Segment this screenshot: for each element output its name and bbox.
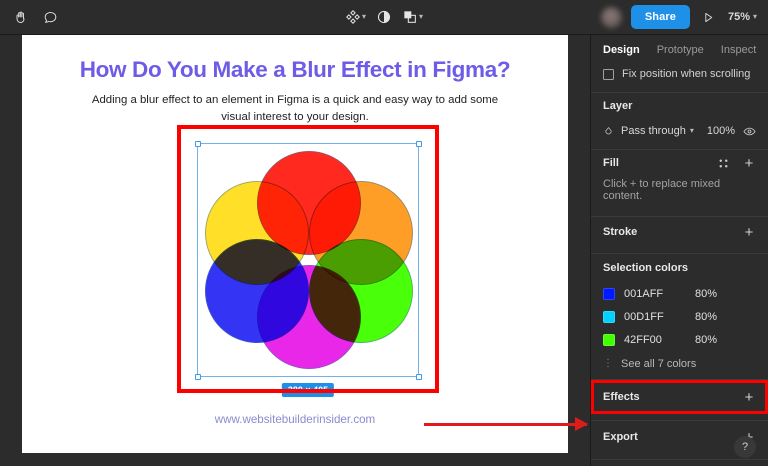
boolean-shapes-icon	[402, 9, 418, 25]
annotation-highlight-box	[177, 125, 439, 393]
tab-prototype[interactable]: Prototype	[657, 44, 704, 56]
help-button[interactable]: ?	[734, 436, 756, 458]
hand-icon	[13, 10, 28, 25]
share-button[interactable]: Share	[631, 5, 690, 29]
mask-contrast-icon	[376, 9, 392, 25]
blend-mode-icon	[603, 126, 614, 137]
fix-position-checkbox[interactable]	[603, 69, 614, 80]
stroke-section-header: Stroke +	[591, 217, 768, 247]
effects-section-header[interactable]: Effects +	[591, 380, 768, 414]
blog-post-frame[interactable]: How Do You Make a Blur Effect in Figma? …	[22, 35, 568, 453]
panel-tabs: Design Prototype Inspect	[591, 38, 768, 62]
avatar[interactable]	[601, 7, 622, 28]
opacity-value[interactable]: 100%	[707, 125, 735, 137]
export-title: Export	[603, 431, 638, 443]
tab-design[interactable]: Design	[603, 44, 640, 56]
layer-title: Layer	[603, 100, 632, 112]
fill-title: Fill	[603, 157, 619, 169]
comment-tool-button[interactable]	[36, 4, 64, 30]
color-opacity: 80%	[695, 334, 717, 346]
fill-styles-button[interactable]	[716, 156, 730, 170]
chevron-down-icon: ▾	[362, 13, 366, 21]
selection-color-row[interactable]: 42FF00 80%	[591, 328, 768, 351]
layer-properties-row: Pass through ▾ 100%	[591, 119, 768, 143]
play-triangle-icon	[702, 11, 715, 24]
color-hex: 42FF00	[624, 334, 686, 346]
top-toolbar: ▾ ▾ Share	[0, 0, 768, 35]
blend-mode-dropdown[interactable]: Pass through ▾	[621, 125, 694, 137]
color-hex: 001AFF	[624, 288, 686, 300]
see-all-colors-label: See all 7 colors	[621, 358, 696, 370]
fill-hint: Click + to replace mixed content.	[591, 176, 768, 210]
blend-mode-value: Pass through	[621, 125, 686, 137]
divider	[591, 459, 768, 460]
right-properties-panel: Design Prototype Inspect Fix position wh…	[590, 35, 768, 466]
page-title: How Do You Make a Blur Effect in Figma?	[22, 57, 568, 83]
color-opacity: 80%	[695, 311, 717, 323]
selection-colors-header: Selection colors	[591, 254, 768, 282]
color-swatch[interactable]	[603, 288, 615, 300]
fix-position-row[interactable]: Fix position when scrolling	[591, 62, 768, 86]
visibility-toggle[interactable]	[742, 124, 756, 138]
layer-section-header: Layer	[591, 93, 768, 119]
post-subtitle: Adding a blur effect to an element in Fi…	[80, 92, 510, 125]
color-hex: 00D1FF	[624, 311, 686, 323]
comment-icon	[43, 10, 58, 25]
hand-tool-button[interactable]	[6, 4, 34, 30]
selection-color-row[interactable]: 001AFF 80%	[591, 282, 768, 305]
fix-position-label: Fix position when scrolling	[622, 68, 750, 80]
fill-add-button[interactable]: +	[742, 156, 756, 170]
zoom-control[interactable]: 75% ▾	[728, 11, 757, 23]
components-tool-button[interactable]: ▾	[345, 9, 366, 25]
selection-color-row[interactable]: 00D1FF 80%	[591, 305, 768, 328]
fill-section-header: Fill +	[591, 150, 768, 176]
chevron-down-icon: ▾	[690, 127, 694, 135]
mask-tool-button[interactable]	[376, 9, 392, 25]
chevron-down-icon: ▾	[419, 13, 423, 21]
components-diamond-icon	[345, 9, 361, 25]
color-opacity: 80%	[695, 288, 717, 300]
annotation-arrow	[424, 423, 587, 426]
more-options-icon: ⋮	[603, 359, 613, 369]
effects-add-button[interactable]: +	[742, 390, 756, 404]
eye-icon	[743, 125, 756, 138]
toolbar-right-controls: Share 75% ▾	[601, 5, 768, 29]
toolbar-left-tools	[0, 4, 64, 30]
effects-title: Effects	[603, 391, 640, 403]
stroke-title: Stroke	[603, 226, 637, 238]
figma-app-window: ▾ ▾ Share	[0, 0, 768, 466]
design-canvas[interactable]: How Do You Make a Blur Effect in Figma? …	[0, 35, 590, 466]
boolean-tool-button[interactable]: ▾	[402, 9, 423, 25]
zoom-level-label: 75%	[728, 11, 750, 23]
present-button[interactable]	[699, 6, 719, 28]
chevron-down-icon: ▾	[753, 13, 757, 21]
color-swatch[interactable]	[603, 334, 615, 346]
tab-inspect[interactable]: Inspect	[721, 44, 756, 56]
color-swatch[interactable]	[603, 311, 615, 323]
style-grid-icon	[718, 158, 729, 169]
see-all-colors-button[interactable]: ⋮ See all 7 colors	[591, 351, 768, 373]
selection-colors-title: Selection colors	[603, 262, 688, 274]
stroke-add-button[interactable]: +	[742, 225, 756, 239]
